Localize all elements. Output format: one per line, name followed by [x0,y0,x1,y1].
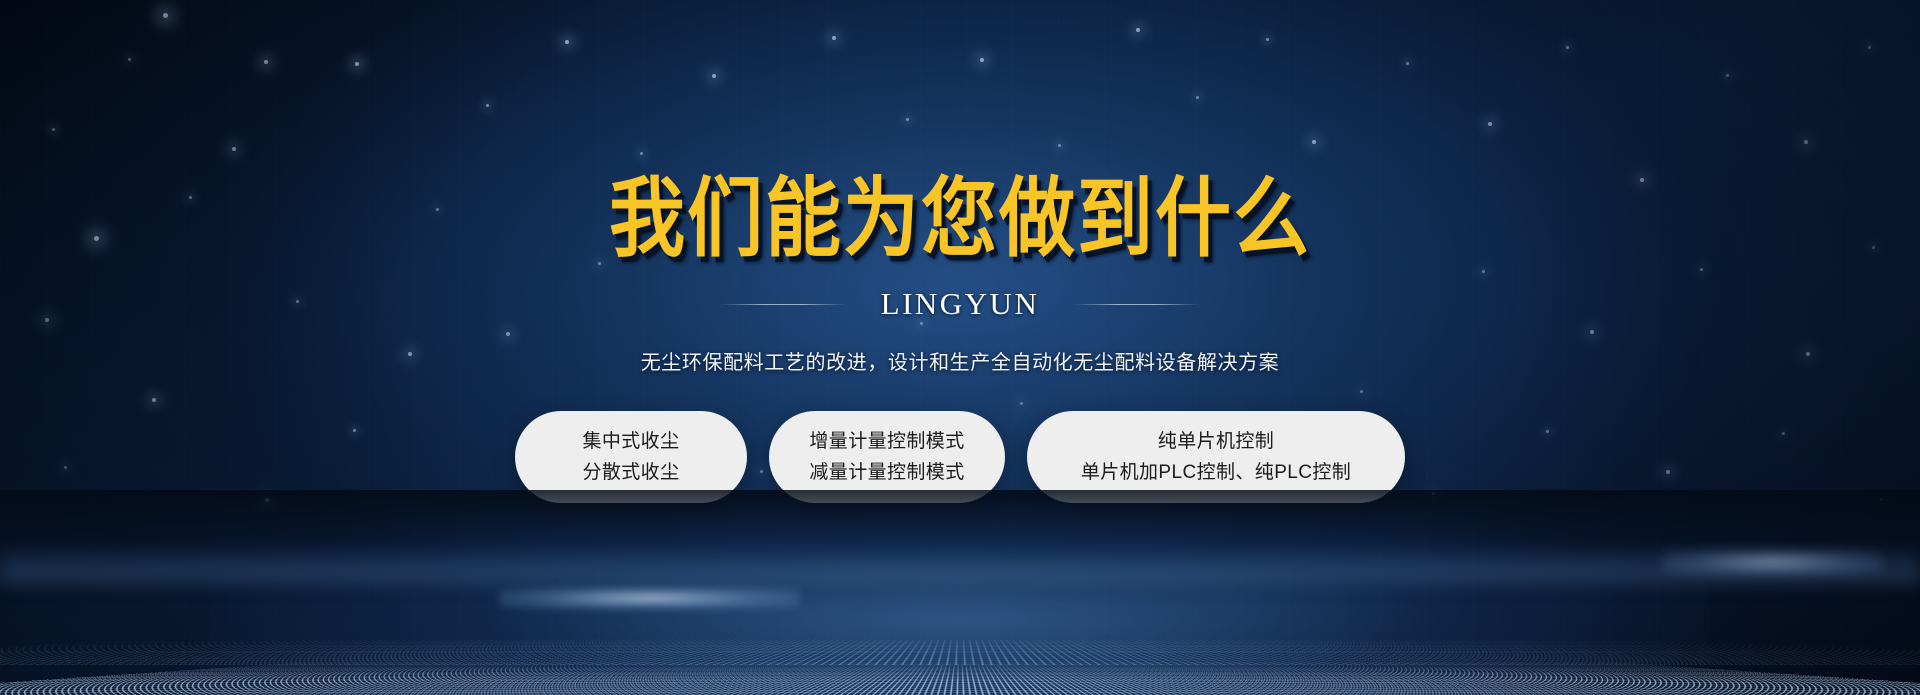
pill-line-2: 减量计量控制模式 [809,463,964,482]
brand-name-en: LINGYUN [881,286,1040,322]
feature-pill-dust-collection[interactable]: 集中式收尘 分散式收尘 [515,411,747,503]
brand-row: LINGYUN [719,286,1202,322]
wave-horizon-band [0,545,1920,591]
divider-line-left [719,304,847,305]
pill-line-1: 增量计量控制模式 [809,432,964,451]
banner-content: 我们能为您做到什么 LINGYUN 无尘环保配料工艺的改进，设计和生产全自动化无… [0,0,1920,503]
divider-line-right [1073,304,1201,305]
pill-line-2: 分散式收尘 [582,463,679,482]
page-subtitle: 无尘环保配料工艺的改进，设计和生产全自动化无尘配料设备解决方案 [641,346,1280,375]
page-title: 我们能为您做到什么 [609,176,1311,263]
pill-line-1: 纯单片机控制 [1158,432,1274,451]
feature-pill-metering-mode[interactable]: 增量计量控制模式 减量计量控制模式 [769,411,1005,503]
wave-highlight-left [499,587,799,609]
feature-pill-control-system[interactable]: 纯单片机控制 单片机加PLC控制、纯PLC控制 [1027,411,1405,503]
pill-line-1: 集中式收尘 [582,432,679,451]
wave-top-fade [0,490,1920,695]
pill-line-2: 单片机加PLC控制、纯PLC控制 [1081,463,1351,482]
feature-pill-group: 集中式收尘 分散式收尘 增量计量控制模式 减量计量控制模式 纯单片机控制 单片机… [515,411,1405,503]
hero-banner: 我们能为您做到什么 LINGYUN 无尘环保配料工艺的改进，设计和生产全自动化无… [0,0,1920,695]
wave-mesh-near [0,662,1920,695]
bottom-wave-mesh [0,490,1920,695]
wave-highlight-right [1662,549,1882,575]
wave-glow [210,505,1710,695]
wave-mesh-far [0,640,1920,665]
